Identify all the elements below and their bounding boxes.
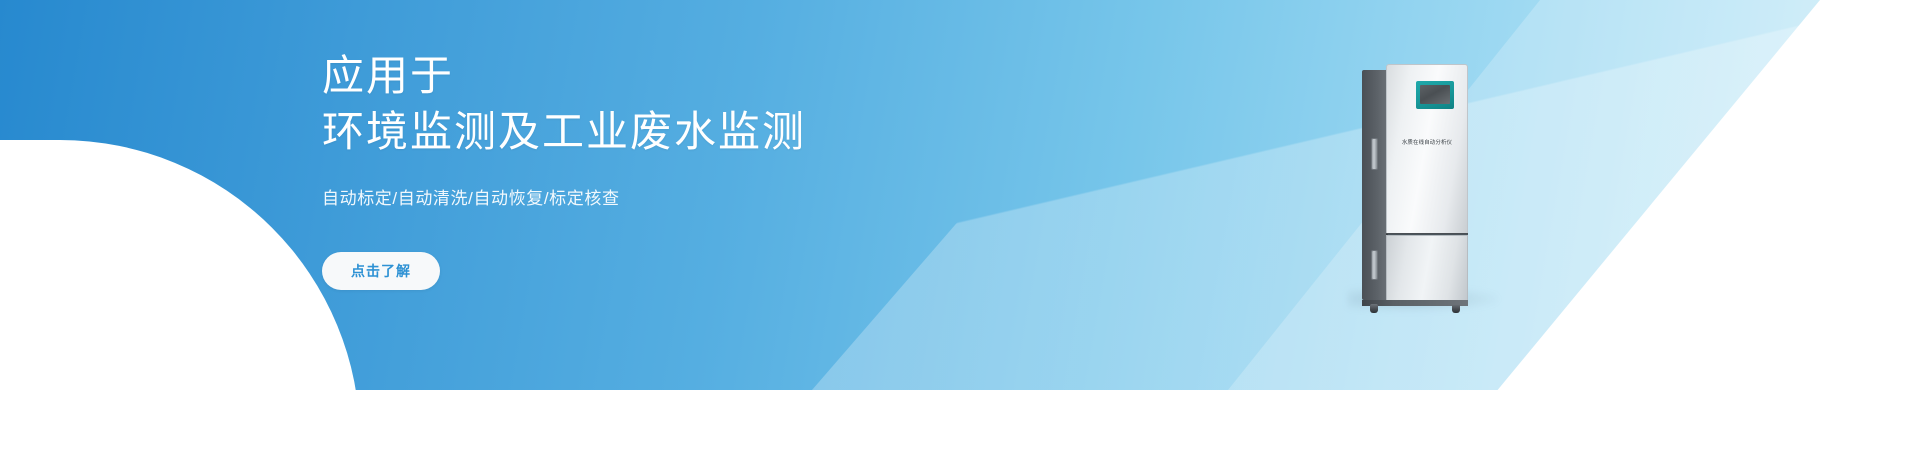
device-caster-left — [1370, 304, 1378, 313]
background-bottom-band — [0, 390, 1920, 450]
learn-more-button[interactable]: 点击了解 — [322, 252, 440, 290]
device-display-screen — [1420, 85, 1450, 104]
hero-banner: 应用于 环境监测及工业废水监测 自动标定/自动清洗/自动恢复/标定核查 点击了解… — [0, 0, 1920, 450]
headline-line-1: 应用于 — [322, 48, 1022, 104]
banner-subtitle: 自动标定/自动清洗/自动恢复/标定核查 — [322, 186, 1022, 212]
device-caster-right — [1452, 304, 1460, 313]
device-front-label: 水质在线自动分析仪 — [1386, 140, 1468, 147]
device-handle-lower — [1371, 250, 1378, 280]
device-lower-door — [1386, 235, 1468, 301]
device-display-bezel — [1416, 81, 1454, 109]
device-handle-upper — [1371, 138, 1378, 170]
banner-content: 应用于 环境监测及工业废水监测 自动标定/自动清洗/自动恢复/标定核查 点击了解 — [322, 48, 1022, 290]
headline-line-2: 环境监测及工业废水监测 — [322, 104, 1022, 160]
water-quality-analyzer-image: 水质在线自动分析仪 — [1362, 64, 1468, 310]
